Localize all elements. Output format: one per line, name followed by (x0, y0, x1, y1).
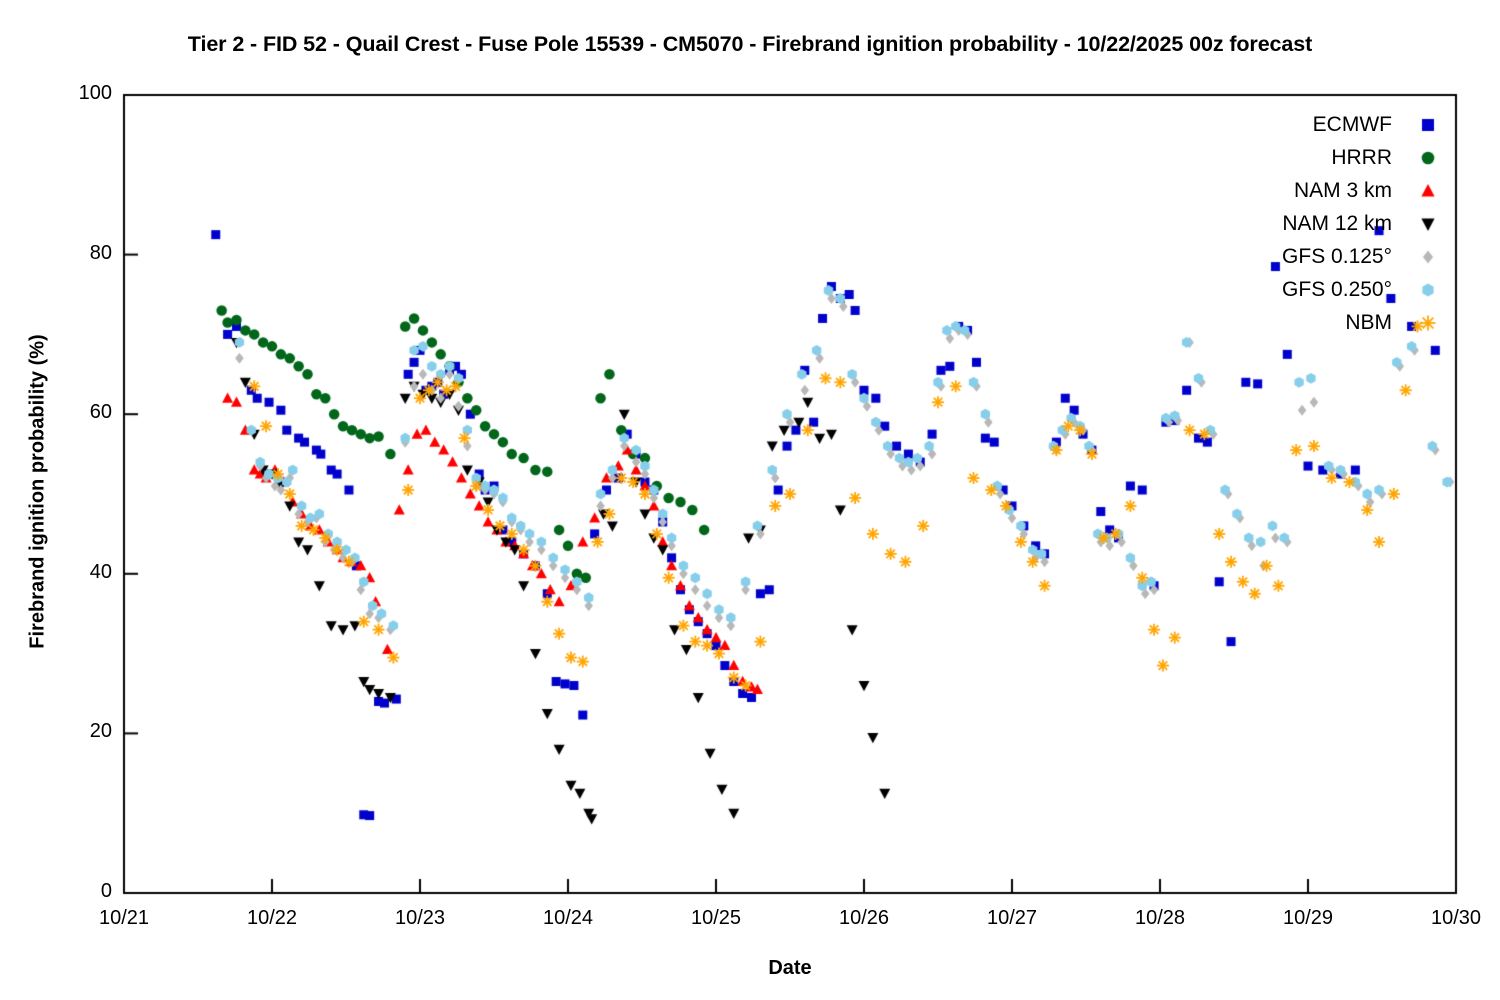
legend-item-nam-3-km[interactable]: NAM 3 km (1150, 174, 1450, 207)
chart-legend: ECMWFHRRRNAM 3 kmNAM 12 kmGFS 0.125°GFS … (1150, 108, 1450, 339)
x-tick-label: 10/27 (952, 907, 1072, 930)
legend-label: GFS 0.250° (1282, 278, 1392, 302)
legend-label: HRRR (1331, 146, 1392, 170)
legend-item-ecmwf[interactable]: ECMWF (1150, 108, 1450, 141)
x-tick-label: 10/25 (656, 907, 776, 930)
legend-item-gfs-0-125[interactable]: GFS 0.125° (1150, 240, 1450, 273)
legend-item-nbm[interactable]: NBM (1150, 306, 1450, 339)
legend-item-nam-12-km[interactable]: NAM 12 km (1150, 207, 1450, 240)
legend-label: NAM 3 km (1294, 179, 1392, 203)
x-tick-label: 10/30 (1396, 907, 1500, 930)
x-tick-label: 10/22 (212, 907, 332, 930)
y-axis-label: Firebrand ignition probability (%) (27, 282, 50, 702)
x-tick-label: 10/23 (360, 907, 480, 930)
x-tick-label: 10/21 (64, 907, 184, 930)
y-tick-label: 40 (12, 561, 112, 584)
legend-item-gfs-0-250[interactable]: GFS 0.250° (1150, 273, 1450, 306)
star-marker-icon (1406, 311, 1450, 335)
y-tick-label: 0 (12, 880, 112, 903)
y-tick-label: 80 (12, 242, 112, 265)
x-axis-label: Date (124, 957, 1456, 980)
legend-label: NBM (1345, 311, 1392, 335)
chart-figure: Tier 2 - FID 52 - Quail Crest - Fuse Pol… (0, 0, 1500, 1000)
circle-marker-icon (1406, 146, 1450, 170)
y-tick-label: 20 (12, 720, 112, 743)
diamond-marker-icon (1406, 245, 1450, 269)
y-tick-label: 100 (12, 82, 112, 105)
triangle-up-marker-icon (1406, 179, 1450, 203)
y-tick-label: 60 (12, 401, 112, 424)
square-marker-icon (1406, 113, 1450, 137)
legend-label: ECMWF (1313, 113, 1392, 137)
x-tick-label: 10/29 (1248, 907, 1368, 930)
x-tick-label: 10/28 (1100, 907, 1220, 930)
x-tick-label: 10/24 (508, 907, 628, 930)
legend-label: GFS 0.125° (1282, 245, 1392, 269)
legend-label: NAM 12 km (1282, 212, 1392, 236)
legend-item-hrrr[interactable]: HRRR (1150, 141, 1450, 174)
triangle-down-marker-icon (1406, 212, 1450, 236)
hexagon-marker-icon (1406, 278, 1450, 302)
x-tick-label: 10/26 (804, 907, 924, 930)
